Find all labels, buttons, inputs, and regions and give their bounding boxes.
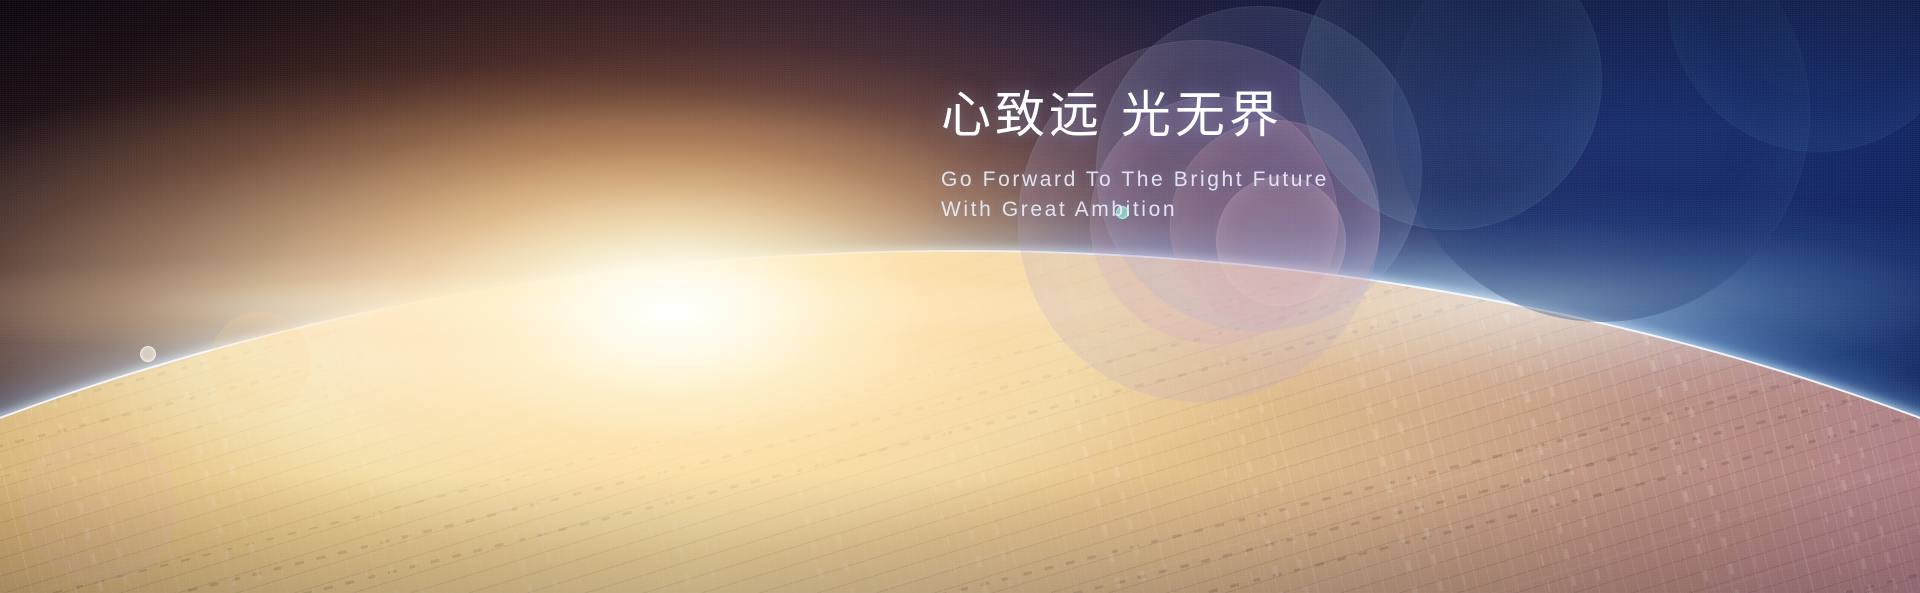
banner-text-block: 心致远 光无界 Go Forward To The Bright Future … — [941, 84, 1329, 225]
banner-headline: 心致远 光无界 — [941, 84, 1329, 146]
banner-subtitle-line-2: With Great Ambition — [941, 195, 1329, 225]
hero-banner: 心致远 光无界 Go Forward To The Bright Future … — [0, 0, 1920, 593]
bokeh-tall-teal — [1300, 0, 1602, 230]
banner-subtitle-line-1: Go Forward To The Bright Future — [941, 165, 1329, 195]
bokeh-edge-blue — [1668, 0, 1920, 152]
